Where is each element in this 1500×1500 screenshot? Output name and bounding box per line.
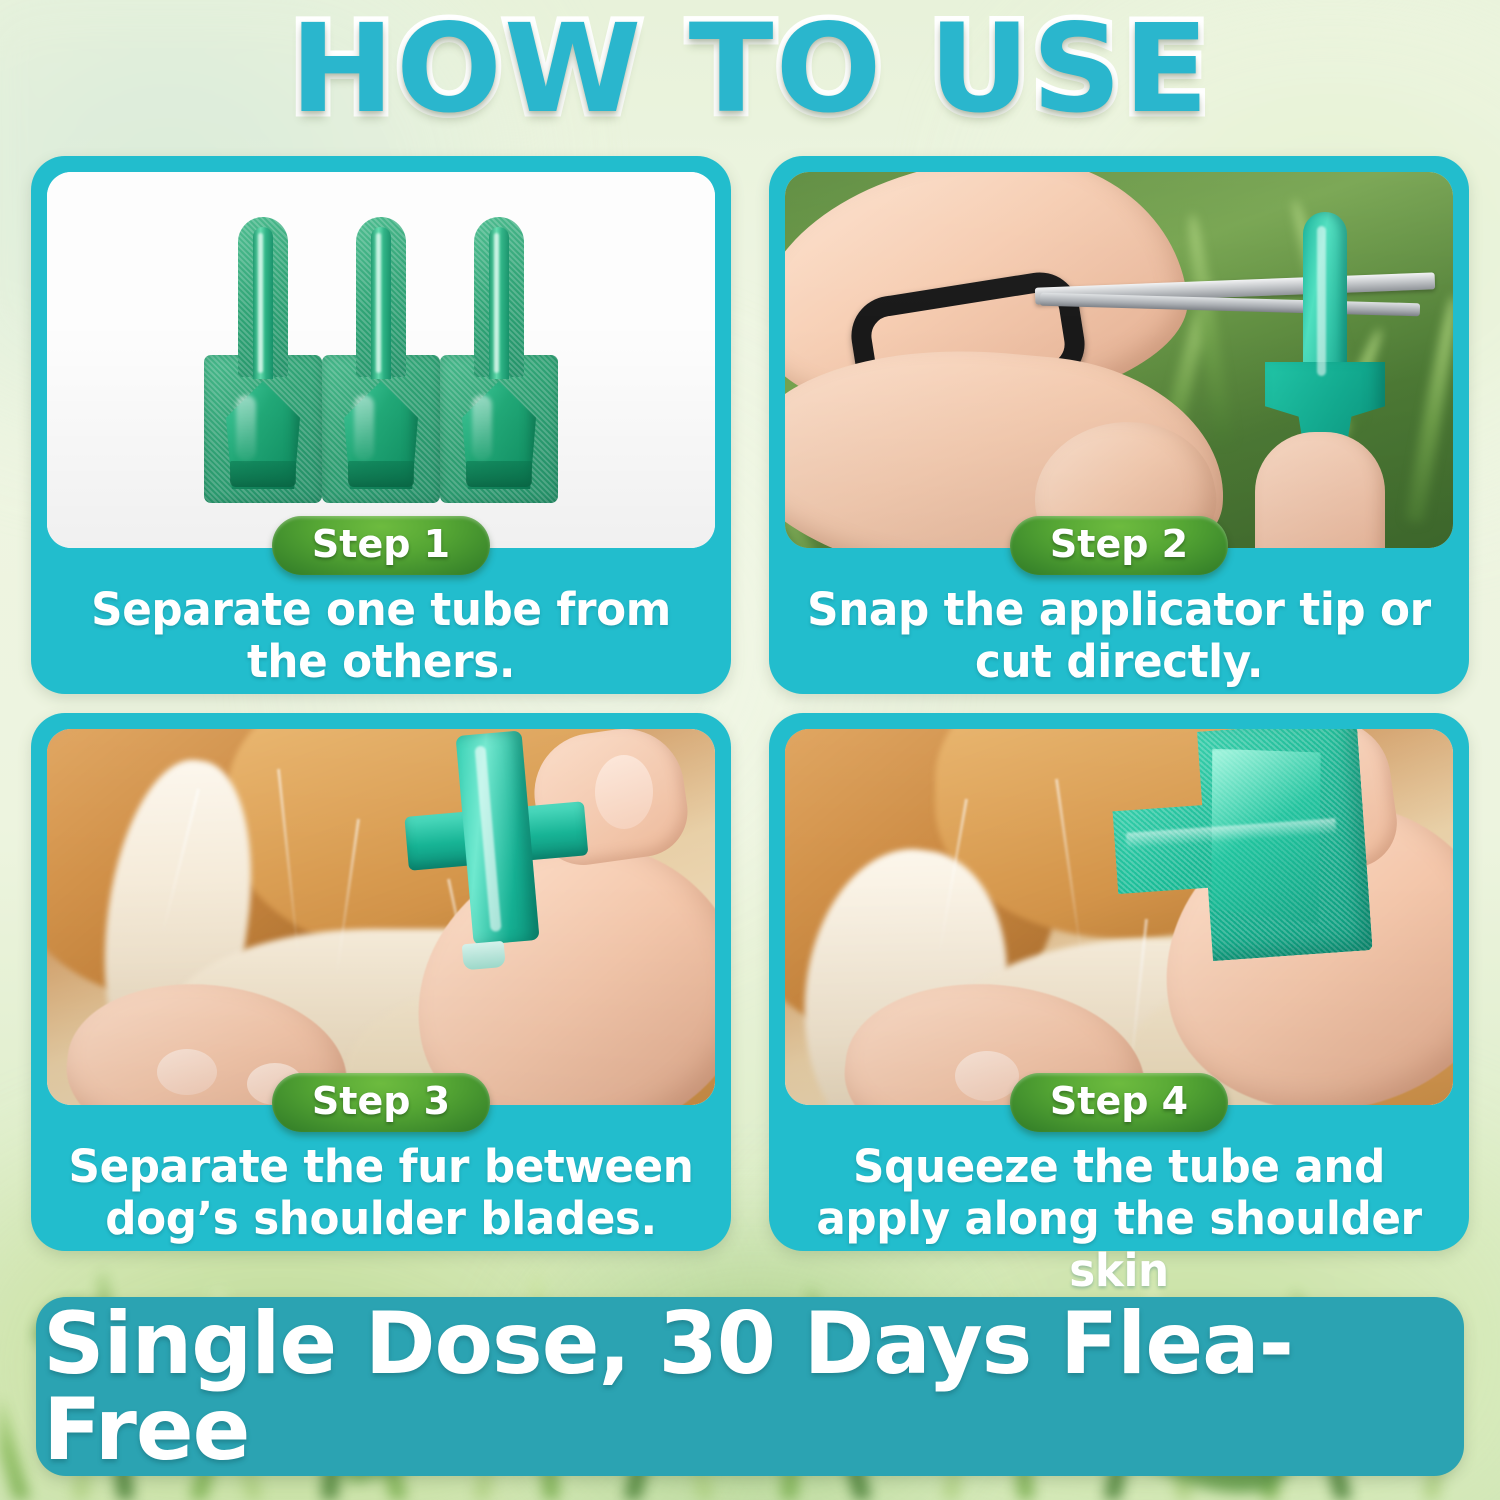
steps-grid: Step 1 Separate one tube from the others… — [31, 156, 1469, 1251]
step-card-4[interactable]: Step 4 Squeeze the tube and apply along … — [769, 713, 1469, 1251]
step-1-photo — [47, 172, 715, 548]
parting-fur-image — [47, 729, 715, 1105]
step-badge-2: Step 2 — [1010, 516, 1228, 575]
applicator-tube — [398, 729, 596, 960]
step-2-badge-row: Step 2 — [785, 548, 1453, 582]
applicator-tube — [322, 217, 440, 503]
how-to-use-infographic: HOW TO USE — [0, 0, 1500, 1500]
applicator-tube — [440, 217, 558, 503]
fingernail — [595, 755, 653, 829]
fingernail — [157, 1049, 217, 1095]
page-title: HOW TO USE — [0, 4, 1500, 136]
applicator-tubes-image — [47, 172, 715, 548]
fingernail — [955, 1051, 1019, 1101]
bottom-banner-text: Single Dose, 30 Days Flea-Free — [43, 1301, 1457, 1473]
step-1-badge-row: Step 1 — [47, 548, 715, 582]
blister-applicator — [1107, 729, 1372, 967]
step-badge-3: Step 3 — [272, 1073, 490, 1132]
step-caption-2: Snap the applicator tip or cut directly. — [795, 582, 1443, 704]
step-4-badge-row: Step 4 — [785, 1105, 1453, 1139]
bottom-banner: Single Dose, 30 Days Flea-Free — [36, 1297, 1464, 1476]
step-card-3[interactable]: Step 3 Separate the fur between dog’s sh… — [31, 713, 731, 1251]
finger — [1255, 432, 1385, 548]
step-caption-3: Separate the fur between dog’s shoulder … — [57, 1139, 705, 1261]
step-caption-1: Separate one tube from the others. — [57, 582, 705, 704]
step-card-1[interactable]: Step 1 Separate one tube from the others… — [31, 156, 731, 694]
step-card-2[interactable]: Step 2 Snap the applicator tip or cut di… — [769, 156, 1469, 694]
step-badge-4: Step 4 — [1010, 1073, 1228, 1132]
step-caption-4: Squeeze the tube and apply along the sho… — [795, 1139, 1443, 1314]
step-3-photo — [47, 729, 715, 1105]
squeezing-tube-image — [785, 729, 1453, 1105]
page-title-text: HOW TO USE — [290, 4, 1211, 136]
applicator-tube — [204, 217, 322, 503]
step-3-badge-row: Step 3 — [47, 1105, 715, 1139]
step-2-photo — [785, 172, 1453, 548]
cutting-applicator-image — [785, 172, 1453, 548]
step-badge-1: Step 1 — [272, 516, 490, 575]
step-4-photo — [785, 729, 1453, 1105]
